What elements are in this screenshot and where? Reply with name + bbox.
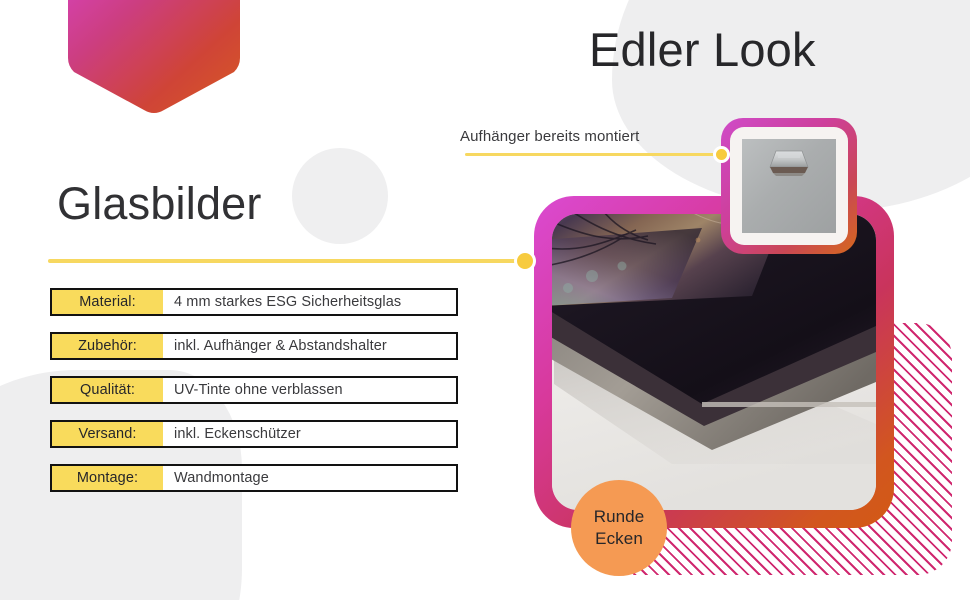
decorative-circle-left — [292, 148, 388, 244]
spec-value-montage: Wandmontage — [163, 466, 456, 490]
hanger-inset-card — [721, 118, 857, 254]
hanger-inset-white-frame — [730, 127, 848, 245]
spec-key-montage: Montage: — [52, 466, 163, 490]
poster-canvas: Edler Look Aufhänger bereits montiert Gl… — [0, 0, 970, 600]
connector-dot-main — [514, 250, 536, 272]
page-headline-right: Edler Look — [589, 22, 816, 77]
page-title: Glasbilder — [57, 178, 262, 230]
spec-key-material: Material: — [52, 290, 163, 314]
glass-print-corner-photo — [552, 214, 876, 510]
table-row: Versand: inkl. Eckenschützer — [50, 420, 458, 448]
shield-badge-icon — [68, 0, 240, 116]
product-image-frame-inner — [552, 214, 876, 510]
spec-value-qualitaet: UV-Tinte ohne verblassen — [163, 378, 456, 402]
wall-hanger-bracket-icon — [742, 139, 836, 233]
spec-key-qualitaet: Qualität: — [52, 378, 163, 402]
callout-hanger-preinstalled: Aufhänger bereits montiert — [460, 128, 639, 145]
table-row: Qualität: UV-Tinte ohne verblassen — [50, 376, 458, 404]
spec-key-versand: Versand: — [52, 422, 163, 446]
specification-table: Material: 4 mm starkes ESG Sicherheitsgl… — [50, 288, 458, 508]
feature-bubble-rounded-corners: Runde Ecken — [571, 480, 667, 576]
table-row: Zubehör: inkl. Aufhänger & Abstandshalte… — [50, 332, 458, 360]
spec-value-material: 4 mm starkes ESG Sicherheitsglas — [163, 290, 456, 314]
bubble-line-1: Runde — [594, 506, 645, 528]
spec-value-versand: inkl. Eckenschützer — [163, 422, 456, 446]
spec-value-zubehoer: inkl. Aufhänger & Abstandshalter — [163, 334, 456, 358]
bubble-line-2: Ecken — [595, 528, 643, 550]
connector-line-top — [465, 153, 723, 156]
table-row: Material: 4 mm starkes ESG Sicherheitsgl… — [50, 288, 458, 316]
connector-dot-top — [713, 146, 730, 163]
spec-key-zubehoer: Zubehör: — [52, 334, 163, 358]
connector-line-main — [48, 259, 526, 263]
table-row: Montage: Wandmontage — [50, 464, 458, 492]
